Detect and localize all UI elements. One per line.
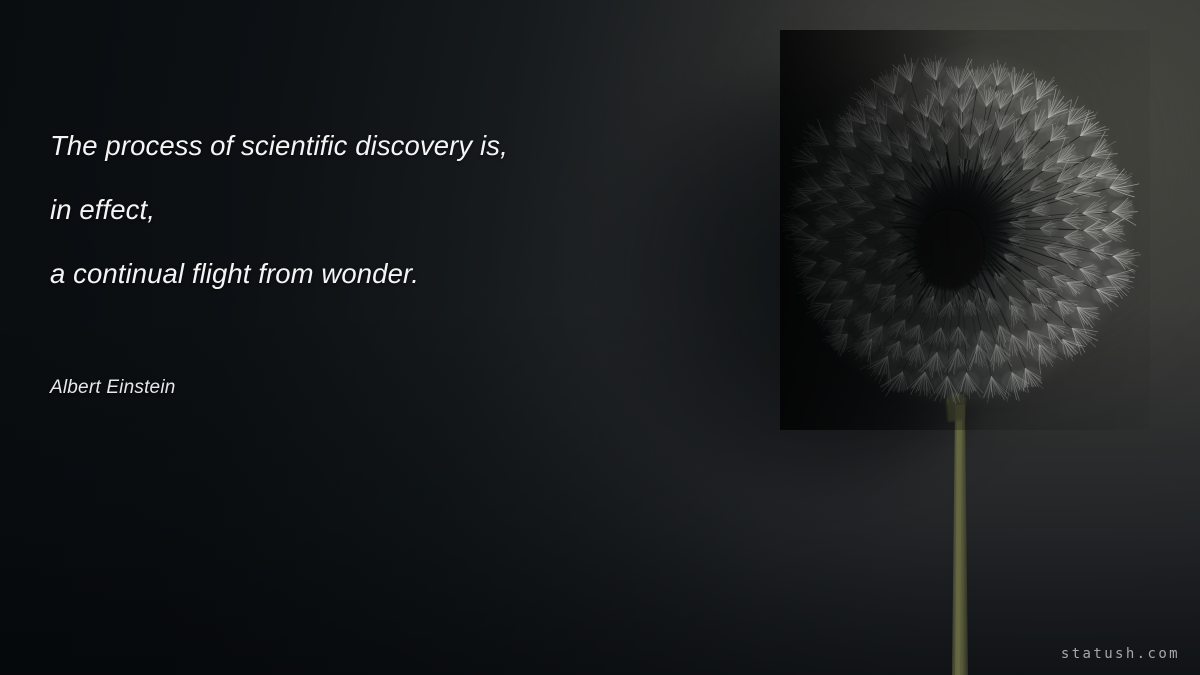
- quote-card: The process of scientific discovery is, …: [0, 0, 1200, 675]
- quote-line-3: a continual flight from wonder.: [50, 242, 750, 306]
- site-watermark: statush.com: [1061, 646, 1180, 662]
- background-bottom-vignette: [0, 0, 1200, 675]
- quote-line-2: in effect,: [50, 178, 750, 242]
- quote-line-1: The process of scientific discovery is,: [50, 114, 750, 178]
- quote-text: The process of scientific discovery is, …: [50, 114, 750, 306]
- quote-author: Albert Einstein: [50, 375, 176, 401]
